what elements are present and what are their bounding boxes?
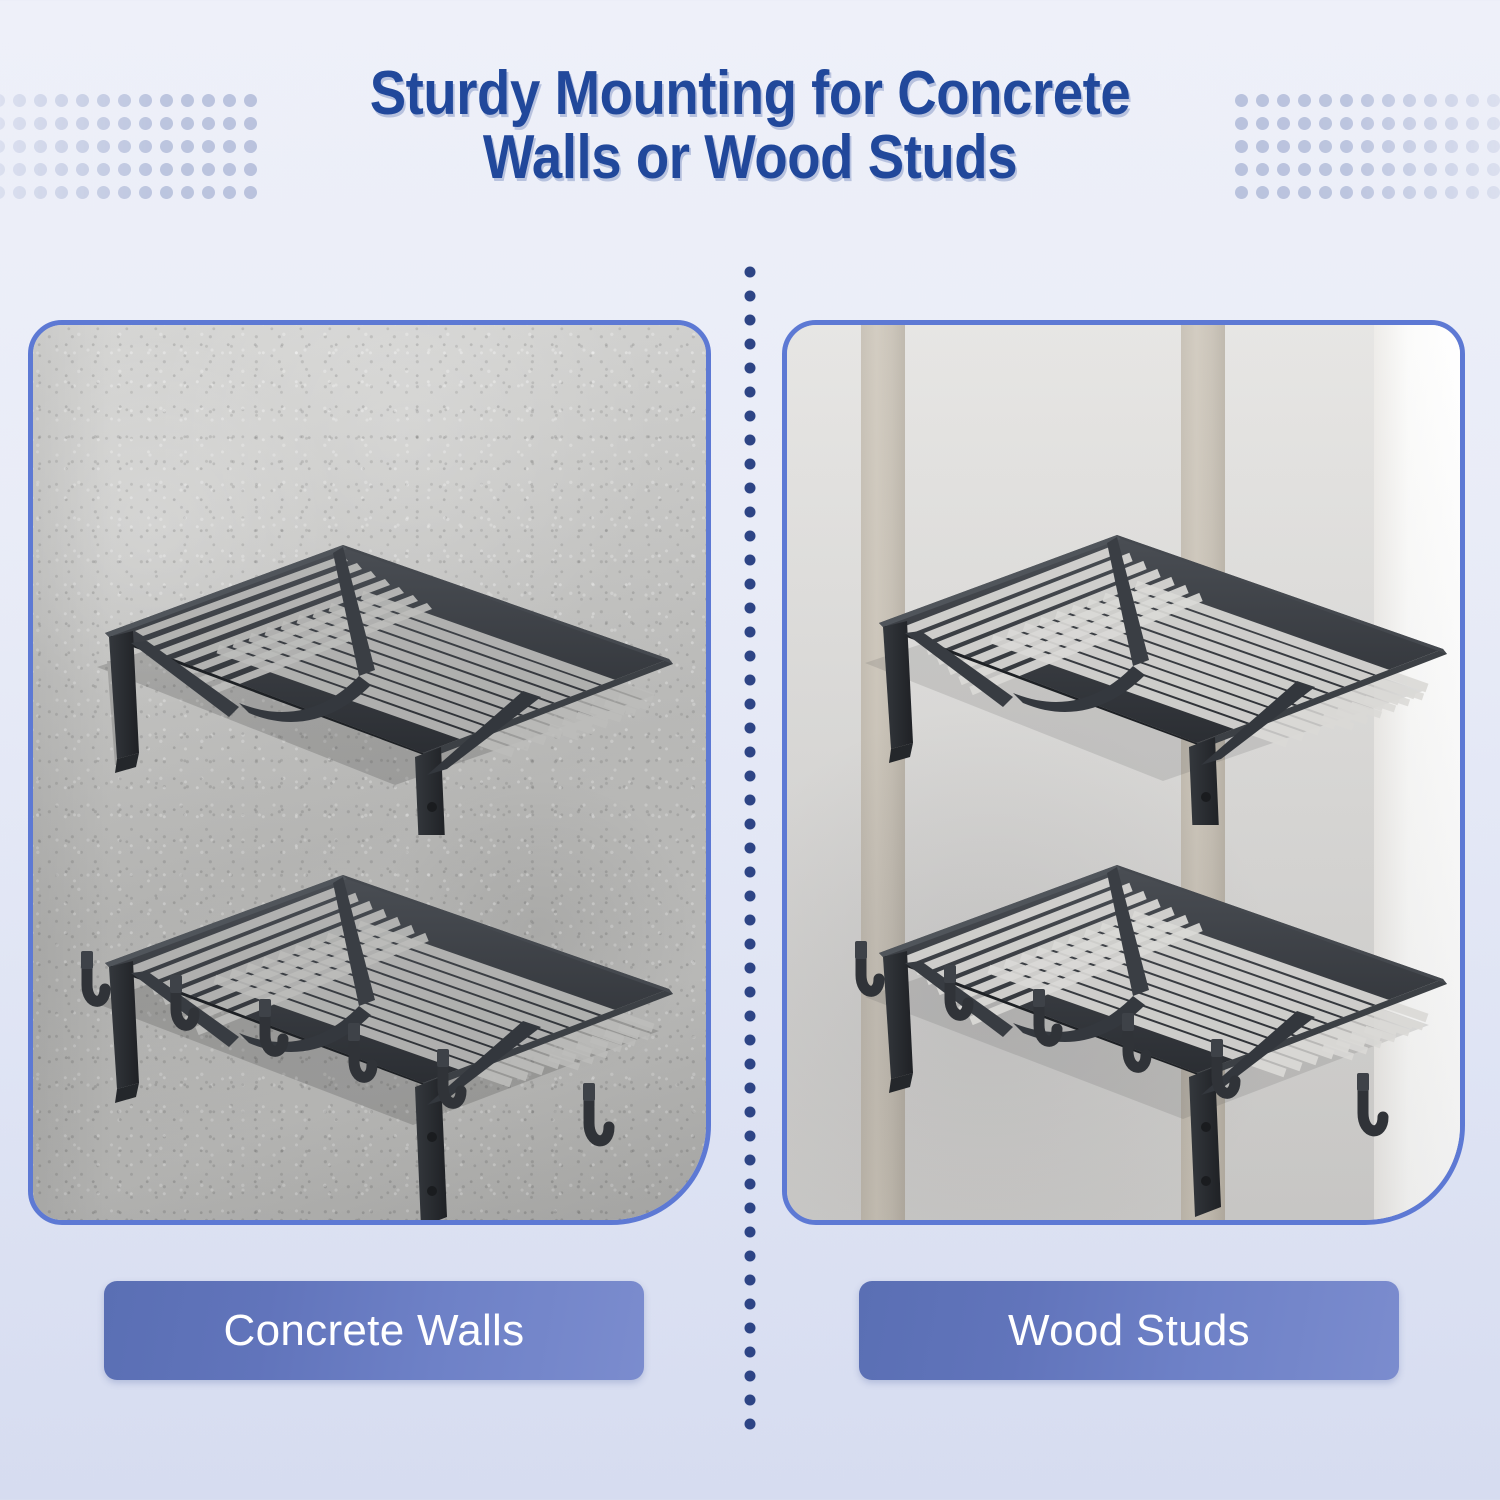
decor-dot — [1445, 117, 1458, 130]
decor-dot — [1487, 117, 1500, 130]
panel-concrete-image — [33, 325, 706, 1220]
decor-dot — [1487, 94, 1500, 107]
decor-dot — [0, 140, 5, 153]
decor-dot — [1466, 140, 1479, 153]
decor-dot — [1487, 186, 1500, 199]
decor-dot — [34, 117, 47, 130]
decor-dot — [1466, 163, 1479, 176]
decor-dot — [1487, 140, 1500, 153]
caption-label: Concrete Walls — [224, 1306, 525, 1356]
decor-dot — [55, 117, 68, 130]
caption-label: Wood Studs — [1008, 1306, 1250, 1356]
decor-dot — [1445, 94, 1458, 107]
decor-dot — [76, 94, 89, 107]
decor-dot — [0, 117, 5, 130]
decor-dot — [13, 140, 26, 153]
caption-concrete-walls: Concrete Walls — [104, 1281, 644, 1380]
decor-dot — [1445, 163, 1458, 176]
decor-dot — [1466, 94, 1479, 107]
decor-dot — [13, 186, 26, 199]
decor-dot — [34, 140, 47, 153]
decor-dot — [1424, 94, 1437, 107]
decor-dot — [1424, 140, 1437, 153]
decor-dot — [55, 163, 68, 176]
shelf-upper-studs — [817, 425, 1460, 825]
decor-dot — [1424, 186, 1437, 199]
vertical-dotted-divider — [744, 266, 756, 1434]
decor-dot — [0, 94, 5, 107]
panel-concrete-walls — [28, 320, 711, 1225]
panel-wood-studs — [782, 320, 1465, 1225]
decor-dot — [1466, 186, 1479, 199]
page-title: Sturdy Mounting for Concrete Walls or Wo… — [90, 62, 1410, 191]
decor-dot — [1487, 163, 1500, 176]
decor-dot — [1424, 117, 1437, 130]
decor-dot — [34, 94, 47, 107]
decor-dot — [0, 186, 5, 199]
decor-dot — [1424, 163, 1437, 176]
decor-dot — [76, 117, 89, 130]
decor-dot — [55, 140, 68, 153]
decor-dot — [1445, 186, 1458, 199]
decor-dot — [55, 94, 68, 107]
decor-dot — [76, 163, 89, 176]
shelf-lower-concrete-with-hooks — [43, 793, 703, 1220]
decor-dot — [1466, 117, 1479, 130]
decor-dot — [13, 163, 26, 176]
decor-dot — [13, 117, 26, 130]
caption-wood-studs: Wood Studs — [859, 1281, 1399, 1380]
decor-dot — [76, 140, 89, 153]
decor-dot — [34, 163, 47, 176]
decor-dot — [0, 163, 5, 176]
decor-dot — [76, 186, 89, 199]
decor-dot — [13, 94, 26, 107]
decor-dot — [55, 186, 68, 199]
decor-dot — [34, 186, 47, 199]
shelf-lower-studs-with-hooks — [817, 783, 1460, 1220]
shelf-upper-concrete — [43, 435, 703, 835]
panel-wood-studs-image — [787, 325, 1460, 1220]
decor-dot — [1445, 140, 1458, 153]
